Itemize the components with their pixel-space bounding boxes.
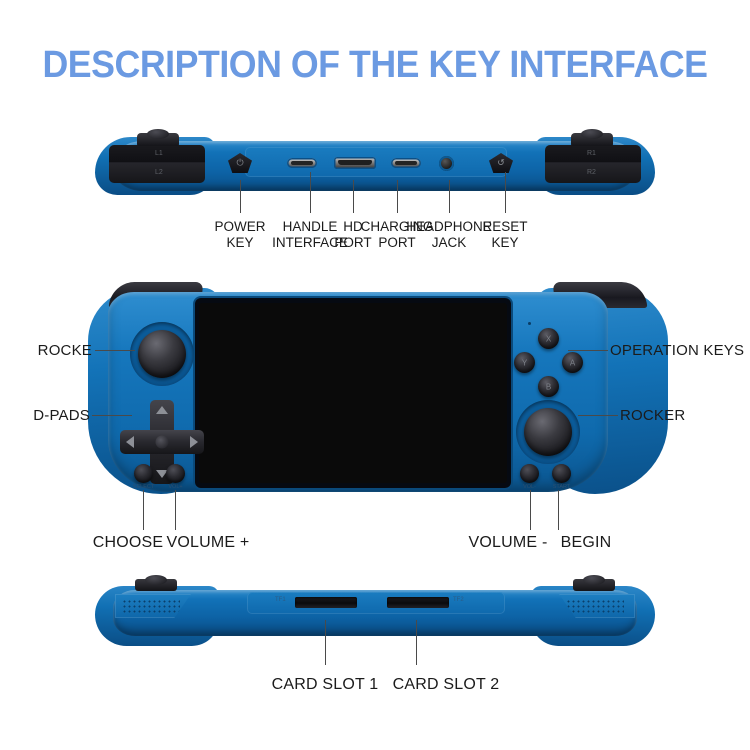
right-speaker-holes xyxy=(566,599,624,613)
callout-rocker-right: ROCKER xyxy=(620,407,685,424)
shoulder-label-r1: R1 xyxy=(587,150,596,157)
leader-card-slot-1 xyxy=(325,620,326,665)
callout-rocke-left: ROCKE xyxy=(38,342,92,359)
right-rocker-well xyxy=(516,400,580,464)
card-slot-panel: TF1 TF2 xyxy=(247,592,505,614)
action-button-b[interactable]: B xyxy=(538,376,559,397)
callout-operation-keys: OPERATION KEYS xyxy=(610,342,744,359)
card-slot-2-cap: TF2 xyxy=(453,597,464,603)
action-button-a[interactable]: A xyxy=(562,352,583,373)
leader-hd-port xyxy=(353,180,354,213)
right-shoulder-buttons: R1 R2 xyxy=(545,145,641,183)
left-shoulder-buttons: L1 L2 xyxy=(109,145,205,183)
leader-volume-up xyxy=(175,490,176,530)
card-slot-2[interactable] xyxy=(387,597,449,608)
card-slot-1[interactable] xyxy=(295,597,357,608)
front-view: SELECT VOL+ X Y A B VOL- START xyxy=(88,278,668,510)
callout-card-slot-2: CARD SLOT 2 xyxy=(393,676,500,694)
leader-reset-key xyxy=(505,172,506,213)
start-button[interactable]: START xyxy=(552,464,571,483)
callout-volume-down: VOLUME - xyxy=(469,534,548,552)
shoulder-label-l1: L1 xyxy=(155,150,163,157)
handle-interface-usb-c-icon[interactable] xyxy=(287,158,317,168)
diagram-canvas: DESCRIPTION OF THE KEY INTERFACE L1 L2 R… xyxy=(0,0,750,750)
action-button-x-label: X xyxy=(546,334,551,343)
callout-headphone-jack: HEADPHONE JACK xyxy=(406,219,492,251)
port-panel xyxy=(245,147,507,177)
dpad-right-icon xyxy=(190,436,198,448)
left-speaker-holes xyxy=(122,599,180,613)
top-edge-view: L1 L2 R1 R2 ⏻ ↺ xyxy=(95,133,655,201)
charging-port-usb-c-icon[interactable] xyxy=(391,158,421,168)
leader-rocke-left xyxy=(95,350,135,351)
left-rocker-well xyxy=(130,322,194,386)
callout-volume-up: VOLUME + xyxy=(167,534,250,552)
leader-rocker-right xyxy=(578,415,618,416)
screen xyxy=(199,303,507,483)
action-button-y[interactable]: Y xyxy=(514,352,535,373)
select-button[interactable]: SELECT xyxy=(134,464,153,483)
screen-bezel xyxy=(195,298,511,488)
action-button-a-label: A xyxy=(570,358,575,367)
left-stick-bottom-profile xyxy=(135,579,177,591)
bottom-edge-view: TF1 TF2 xyxy=(95,580,655,660)
shoulder-label-r2: R2 xyxy=(587,169,596,176)
right-rocker-stick[interactable] xyxy=(524,408,572,456)
callout-card-slot-1: CARD SLOT 1 xyxy=(272,676,379,694)
shoulder-label-l2: L2 xyxy=(155,169,163,176)
leader-operation-keys xyxy=(568,350,608,351)
headphone-jack-icon[interactable] xyxy=(439,156,454,171)
callout-reset-key: RESET KEY xyxy=(482,219,527,251)
dpad-center-hub xyxy=(156,436,169,449)
callout-begin: BEGIN xyxy=(561,534,612,552)
action-button-x[interactable]: X xyxy=(538,328,559,349)
right-stick-bottom-profile xyxy=(573,579,615,591)
card-slot-1-cap: TF1 xyxy=(275,597,286,603)
action-button-b-label: B xyxy=(546,382,551,391)
left-stick-top-profile xyxy=(137,133,179,146)
volume-up-button[interactable]: VOL+ xyxy=(166,464,185,483)
start-button-cap: START xyxy=(553,484,571,490)
leader-power-key xyxy=(240,180,241,213)
callout-dpads: D-PADS xyxy=(33,407,90,424)
leader-headphone-jack xyxy=(449,180,450,213)
right-stick-top-profile xyxy=(571,133,613,146)
leader-choose xyxy=(143,490,144,530)
action-button-y-label: Y xyxy=(522,358,527,367)
callout-choose: CHOOSE xyxy=(93,534,164,552)
leader-begin xyxy=(558,490,559,530)
leader-card-slot-2 xyxy=(416,620,417,665)
leader-volume-down xyxy=(530,490,531,530)
power-glyph: ⏻ xyxy=(236,158,243,169)
leader-handle-interface xyxy=(310,172,311,213)
status-led xyxy=(528,322,531,325)
volume-down-button[interactable]: VOL- xyxy=(520,464,539,483)
reset-glyph: ↺ xyxy=(497,158,505,169)
page-title: DESCRIPTION OF THE KEY INTERFACE xyxy=(23,44,728,87)
dpad[interactable] xyxy=(120,400,204,484)
dpad-left-icon xyxy=(126,436,134,448)
leader-charging-port xyxy=(397,180,398,213)
leader-dpads xyxy=(92,415,132,416)
hd-port-hdmi-icon[interactable] xyxy=(334,157,376,169)
dpad-up-icon xyxy=(156,406,168,414)
left-rocker-stick[interactable] xyxy=(138,330,186,378)
callout-power-key: POWER KEY xyxy=(214,219,265,251)
